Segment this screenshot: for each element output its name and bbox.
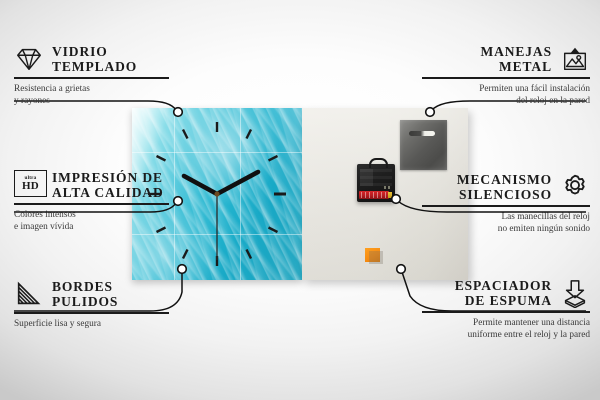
feature-impresion-alta-calidad: ultra HD IMPRESIÓN DE ALTA CALIDAD Color… — [14, 170, 169, 233]
feature-bordes-pulidos: BORDES PULIDOS Superficie lisa y segura — [14, 279, 169, 330]
leader-dot-mecanismo — [392, 195, 401, 204]
diamond-icon — [14, 44, 44, 74]
feature-title: IMPRESIÓN DE — [52, 170, 164, 185]
feature-subtitle: Las manecillas del reloj — [422, 211, 590, 223]
picture-frame-hanging-icon — [560, 44, 590, 74]
feature-title-2: ALTA CALIDAD — [52, 185, 164, 200]
leader-dot-espaciador — [397, 265, 406, 274]
feature-subtitle: Superficie lisa y segura — [14, 318, 169, 330]
feature-title-2: TEMPLADO — [52, 59, 137, 74]
feature-title: BORDES — [52, 279, 118, 294]
feature-mecanismo-silencioso: MECANISMO SILENCIOSO Las manecillas del … — [422, 172, 590, 235]
divider — [14, 203, 169, 204]
feature-title: MANEJAS — [480, 44, 552, 59]
feature-subtitle: Resistencia a grietas — [14, 83, 169, 95]
feature-subtitle-2: e imagen vívida — [14, 221, 169, 233]
feature-title: ESPACIADOR — [455, 278, 552, 293]
feature-title-2: METAL — [480, 59, 552, 74]
infographic-canvas: VIDRIO TEMPLADO Resistencia a grietas y … — [0, 0, 600, 400]
feature-subtitle: Colores intensos — [14, 209, 169, 221]
divider — [14, 312, 169, 313]
ultra-hd-icon-main: HD — [22, 181, 39, 192]
feature-subtitle-2: uniforme entre el reloj y la pared — [422, 329, 590, 341]
feature-subtitle-2: y rayones — [14, 95, 169, 107]
feature-subtitle: Permite mantener una distancia — [422, 317, 590, 329]
divider — [14, 77, 169, 78]
ultra-hd-icon: ultra HD — [14, 170, 44, 200]
feature-subtitle: Permiten una fácil instalación — [422, 83, 590, 95]
bevel-edge-icon — [14, 279, 44, 309]
down-arrow-on-pad-icon — [560, 278, 590, 308]
divider — [422, 77, 590, 78]
feature-manejas-metal: MANEJAS METAL Permiten una fácil instala… — [422, 44, 590, 107]
leader-dot-manejas — [426, 108, 435, 117]
feature-subtitle-2: del reloj en la pared — [422, 95, 590, 107]
feature-title-2: DE ESPUMA — [455, 293, 552, 308]
feature-title-2: PULIDOS — [52, 294, 118, 309]
feature-espaciador-espuma: ESPACIADOR DE ESPUMA Permite mantener un… — [422, 278, 590, 341]
leader-dot-impresion — [174, 197, 183, 206]
gear-icon — [560, 172, 590, 202]
leader-dot-bordes — [178, 265, 187, 274]
leader-dot-vidrio — [174, 108, 183, 117]
feature-title-2: SILENCIOSO — [457, 187, 552, 202]
feature-title: VIDRIO — [52, 44, 137, 59]
divider — [422, 205, 590, 206]
feature-title: MECANISMO — [457, 172, 552, 187]
divider — [422, 311, 590, 312]
feature-subtitle-2: no emiten ningún sonido — [422, 223, 590, 235]
feature-vidrio-templado: VIDRIO TEMPLADO Resistencia a grietas y … — [14, 44, 169, 107]
